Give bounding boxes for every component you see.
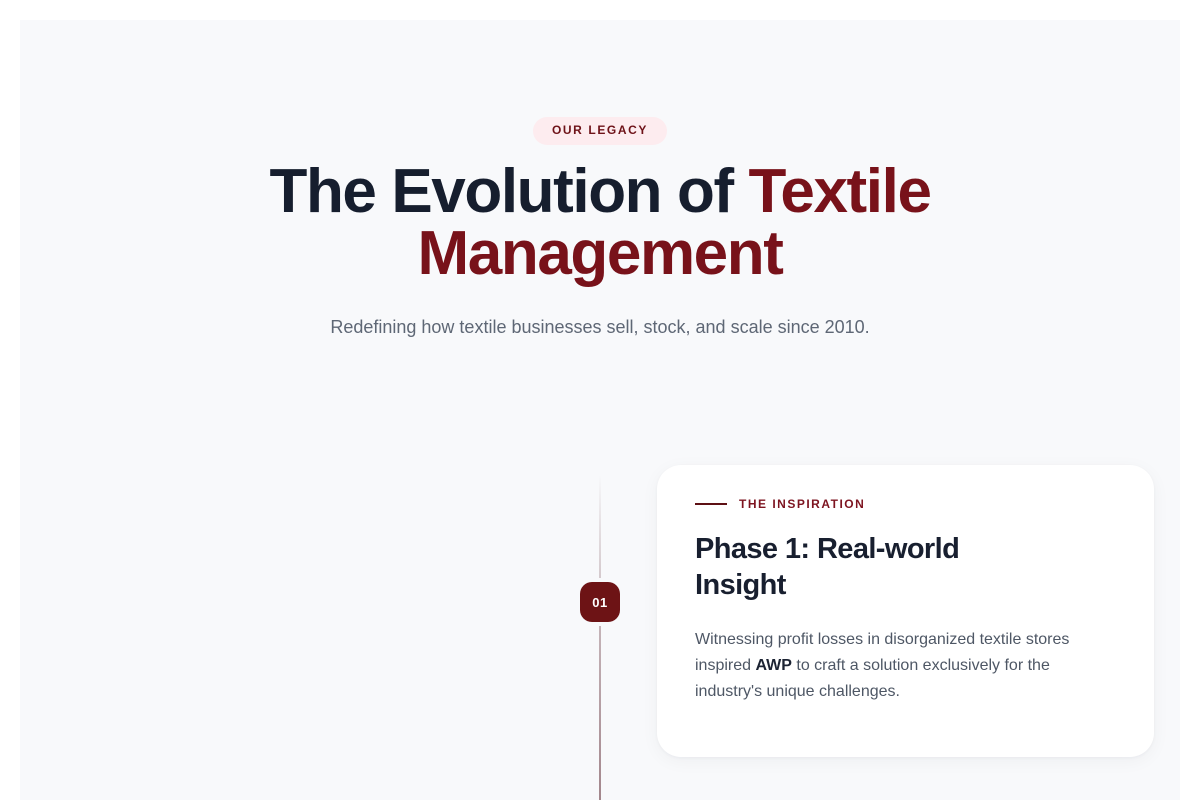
timeline-axis-line [599, 475, 601, 800]
page-root: OUR LEGACY The Evolution of Textile Mana… [0, 0, 1200, 800]
timeline: 01 THE INSPIRATION Phase 1: Real-world I… [20, 20, 1180, 800]
card-body: Witnessing profit losses in disorganized… [695, 627, 1105, 705]
dash-icon [695, 503, 727, 505]
card-body-emphasis: AWP [755, 657, 791, 674]
legacy-section: OUR LEGACY The Evolution of Textile Mana… [20, 20, 1180, 800]
timeline-marker-01[interactable]: 01 [580, 582, 620, 622]
card-title: Phase 1: Real-world Insight [695, 531, 1035, 603]
card-eyebrow-row: THE INSPIRATION [695, 497, 1116, 511]
phase-card-01[interactable]: THE INSPIRATION Phase 1: Real-world Insi… [657, 465, 1154, 757]
card-eyebrow-label: THE INSPIRATION [739, 498, 865, 511]
